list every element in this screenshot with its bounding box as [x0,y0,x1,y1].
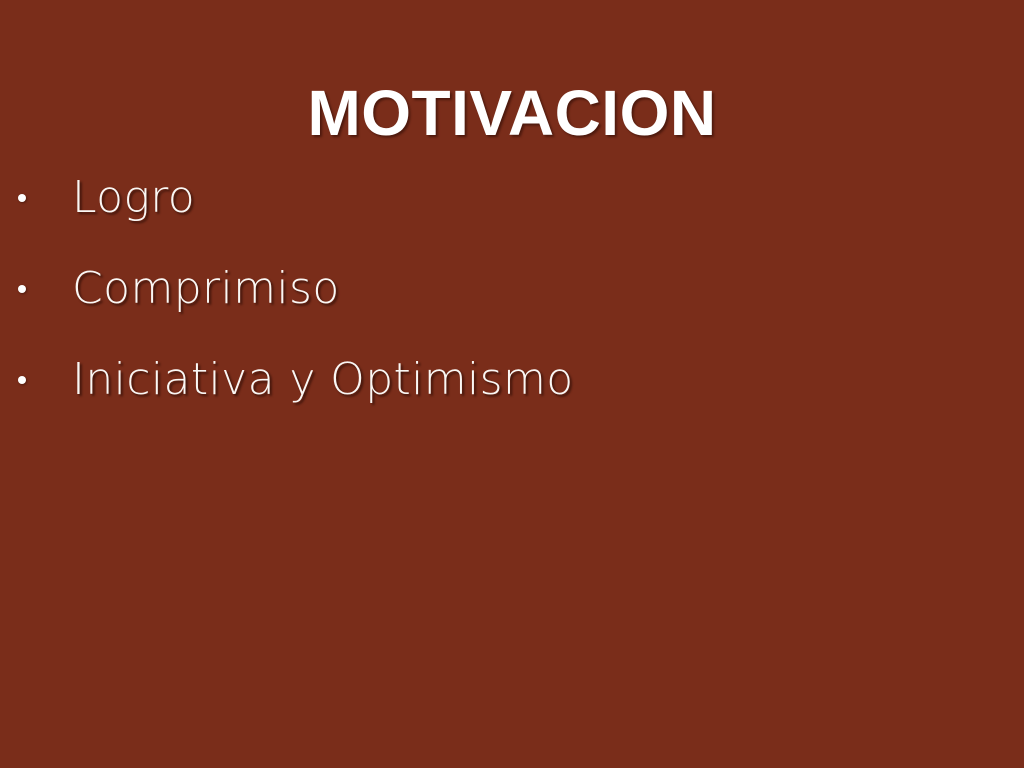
list-item[interactable]: Comprimiso [0,243,1024,334]
bullet-dot-icon [18,376,26,384]
bullet-item-label: Iniciativa y Optimismo [72,353,574,407]
slide-title: MOTIVACION [0,77,1024,149]
bullet-item-label: Comprimiso [72,262,340,316]
list-item[interactable]: Iniciativa y Optimismo [0,334,1024,425]
bullet-dot-icon [18,194,26,202]
presentation-slide: MOTIVACION Logro Comprimiso Iniciativa y… [0,0,1024,768]
bullet-list: Logro Comprimiso Iniciativa y Optimismo [0,152,1024,425]
list-item[interactable]: Logro [0,152,1024,243]
bullet-dot-icon [18,285,26,293]
bullet-item-label: Logro [72,171,195,225]
